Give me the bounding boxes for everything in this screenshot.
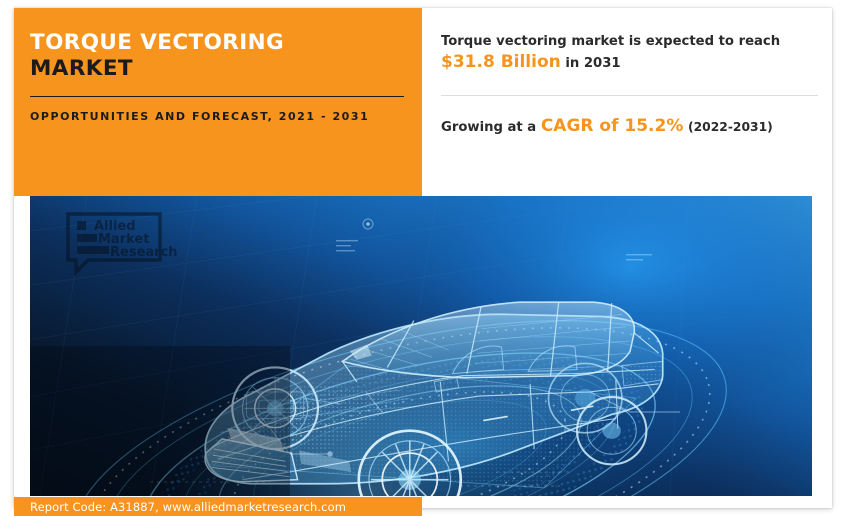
cagr-prefix: Growing at a bbox=[441, 120, 536, 135]
title-line-1: TORQUE VECTORING bbox=[30, 30, 402, 56]
stats-divider bbox=[441, 95, 818, 96]
market-size-prefix: Torque vectoring market is expected to r… bbox=[441, 34, 780, 49]
page-title: TORQUE VECTORING MARKET bbox=[30, 30, 402, 82]
report-card: TORQUE VECTORING MARKET OPPORTUNITIES AN… bbox=[14, 8, 832, 508]
svg-text:Research: Research bbox=[110, 245, 178, 260]
cagr-period: (2022-2031) bbox=[688, 120, 773, 134]
cagr-stat: Growing at a CAGR of 15.2% (2022-2031) bbox=[441, 115, 821, 139]
stats-panel: Torque vectoring market is expected to r… bbox=[428, 8, 832, 196]
title-panel: TORQUE VECTORING MARKET OPPORTUNITIES AN… bbox=[14, 8, 422, 196]
market-size-value: $31.8 Billion bbox=[441, 52, 561, 72]
page-subtitle: OPPORTUNITIES AND FORECAST, 2021 - 2031 bbox=[30, 107, 408, 126]
hero-illustration: Allied Market Research bbox=[30, 196, 812, 496]
title-divider bbox=[30, 96, 404, 97]
hero-image: Allied Market Research bbox=[30, 196, 812, 496]
report-code-text: Report Code: A31887, www.alliedmarketres… bbox=[30, 499, 346, 515]
title-line-2: MARKET bbox=[30, 56, 402, 82]
infographic-root: TORQUE VECTORING MARKET OPPORTUNITIES AN… bbox=[0, 0, 847, 516]
market-size-stat: Torque vectoring market is expected to r… bbox=[441, 32, 814, 74]
cagr-value: CAGR of 15.2% bbox=[541, 116, 684, 136]
market-size-suffix: in 2031 bbox=[565, 56, 620, 71]
